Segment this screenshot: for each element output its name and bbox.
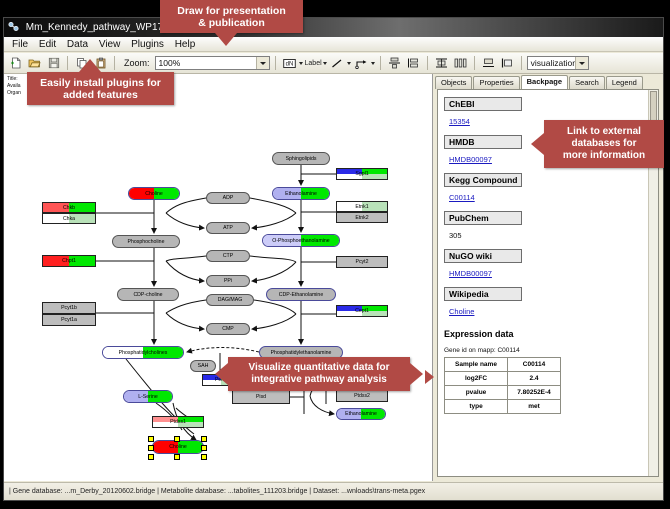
db-header-kegg-compound: Kegg Compound	[444, 173, 522, 187]
callout-draw-line1: Draw for presentation	[177, 5, 286, 17]
side-panel-tabs[interactable]: Objects Properties Backpage Search Legen…	[435, 75, 661, 89]
menu-item-help[interactable]: Help	[171, 37, 200, 52]
db-header-chebi: ChEBI	[444, 97, 522, 111]
gene-cept1[interactable]: Cept1	[336, 305, 388, 317]
callout-visualize-arrow-left-icon	[215, 363, 228, 385]
gene-label: Ptdss2	[354, 393, 370, 399]
tab-legend[interactable]: Legend	[606, 76, 643, 89]
new-file-icon[interactable]	[7, 55, 24, 72]
menu-item-view[interactable]: View	[95, 37, 125, 52]
datanode-icon[interactable]: dN	[281, 55, 298, 72]
screenshot-root: Mm_Kennedy_pathway_WP1771_45176.gpml Fil…	[0, 0, 670, 509]
table-row: type met	[445, 400, 561, 414]
node-label: SAH	[198, 363, 209, 369]
node-label: CMP	[222, 326, 234, 332]
node-label: ADP	[223, 195, 234, 201]
node-phosphatidylcholines[interactable]: Phosphatidylcholines	[102, 346, 184, 359]
open-file-icon[interactable]	[26, 55, 43, 72]
node-label: Choline	[145, 191, 163, 197]
toolbar-separator	[67, 56, 68, 70]
node-atp[interactable]: ATP	[206, 222, 250, 234]
gene-sgpl1[interactable]: Sgpl1	[336, 168, 388, 180]
callout-link: Link to external databases for more info…	[544, 120, 664, 168]
zoom-value: 100%	[159, 58, 181, 68]
node-sah[interactable]: SAH	[190, 360, 216, 372]
node-label: CDP-choline	[133, 292, 162, 298]
db-header-nugo-wiki: NuGO wiki	[444, 249, 522, 263]
label-tool[interactable]: Label	[305, 60, 327, 67]
node-ethanolamine-top[interactable]: Ethanolamine	[272, 187, 330, 200]
tab-objects[interactable]: Objects	[435, 76, 472, 89]
callout-draw-line2: & publication	[177, 17, 286, 29]
node-choline-selected[interactable]: Choline	[152, 440, 204, 454]
tab-properties[interactable]: Properties	[473, 76, 519, 89]
handle-e[interactable]	[201, 445, 207, 451]
handle-n[interactable]	[174, 436, 180, 442]
node-label: Phosphatidylethanolamine	[271, 350, 332, 356]
db-link-kegg-compound[interactable]: C00114	[449, 193, 475, 202]
callout-link-line2: databases for	[563, 138, 645, 150]
toolbar-separator	[380, 56, 381, 70]
save-file-icon[interactable]	[45, 55, 62, 72]
gene-label: Etnk2	[355, 215, 368, 221]
gene-label: Pcyt1a	[61, 317, 77, 323]
expr-value-log2fc: 2.4	[508, 372, 561, 386]
handle-s[interactable]	[174, 454, 180, 460]
toolbar-separator	[114, 56, 115, 70]
visualization-combo[interactable]: visualization	[527, 56, 589, 70]
table-row: pvalue 7.80252E-4	[445, 386, 561, 400]
node-sphingolipids[interactable]: Sphingolipids	[272, 152, 330, 165]
callout-link-line1: Link to external	[563, 126, 645, 138]
callout-visualize-line2: integrative pathway analysis	[249, 374, 390, 386]
node-label: Phosphocholine	[128, 239, 165, 245]
callout-visualize-arrow-right-icon	[410, 363, 423, 385]
node-label: L-Serine	[138, 394, 158, 400]
node-label: ATP	[223, 225, 233, 231]
expression-table: Sample name C00114 log2FC 2.4 pvalue 7.8…	[444, 357, 561, 414]
gene-pcyt1b[interactable]: Pcyt1b	[42, 302, 96, 314]
status-bar-text: | Gene database: ...m_Derby_20120602.bri…	[9, 488, 425, 495]
callout-draw: Draw for presentation & publication	[160, 0, 303, 33]
gene-pcyt1a[interactable]: Pcyt1a	[42, 314, 96, 326]
table-row: log2FC 2.4	[445, 372, 561, 386]
node-ppi[interactable]: PPi	[206, 275, 250, 287]
node-choline-top[interactable]: Choline	[128, 187, 180, 200]
gene-chpt1[interactable]: Chpt1	[42, 255, 96, 267]
interaction-tool[interactable]	[353, 55, 375, 72]
db-header-hmdb: HMDB	[444, 135, 522, 149]
db-link-wikipedia[interactable]: Choline	[449, 307, 474, 316]
gene-ptdss2[interactable]: Ptdss2	[336, 390, 388, 402]
menu-item-plugins[interactable]: Plugins	[127, 37, 168, 52]
db-value-pubchem: 305	[449, 231, 462, 240]
callout-plugins-arrow-icon	[79, 59, 101, 72]
expr-key-sample-name: Sample name	[445, 358, 508, 372]
db-link-nugo-wiki[interactable]: HMDB00097	[449, 269, 492, 278]
expr-key-pvalue: pvalue	[445, 386, 508, 400]
chevron-down-icon[interactable]	[256, 57, 269, 69]
handle-ne[interactable]	[201, 436, 207, 442]
expression-data-heading: Expression data	[444, 329, 646, 339]
callout-visualize: Visualize quantitative data for integrat…	[228, 357, 410, 391]
gene-etnk1[interactable]: Etnk1	[336, 201, 388, 212]
expr-value-sample-name: C00114	[508, 358, 561, 372]
menu-item-file[interactable]: File	[8, 37, 32, 52]
title-bar: Mm_Kennedy_pathway_WP1771_45176.gpml	[4, 18, 663, 37]
line-tool[interactable]	[329, 55, 351, 72]
callout-link-arrow-icon	[531, 133, 544, 155]
expr-value-type: met	[508, 400, 561, 414]
node-label: Ethanolamine	[285, 191, 317, 197]
db-link-chebi[interactable]: 15354	[449, 117, 470, 126]
expr-key-log2fc: log2FC	[445, 372, 508, 386]
gene-label: Pcyt1b	[61, 305, 77, 311]
callout-link-line3: more information	[563, 150, 645, 162]
node-label: CTP	[223, 253, 233, 259]
node-phosphocholine[interactable]: Phosphocholine	[112, 235, 180, 248]
pathway-canvas[interactable]: Sphingolipids Phosphocholine CDP-choline…	[4, 74, 433, 481]
node-cmp[interactable]: CMP	[206, 323, 250, 335]
line-icon[interactable]	[329, 55, 346, 72]
node-label: Choline	[169, 444, 187, 450]
align-icon[interactable]	[386, 55, 403, 72]
node-cdp-choline[interactable]: CDP-choline	[117, 288, 179, 301]
node-label: Ethanolamine	[345, 411, 377, 417]
gene-pcyt2[interactable]: Pcyt2	[336, 256, 388, 268]
node-adp[interactable]: ADP	[206, 192, 250, 204]
callout-visualize-line1: Visualize quantitative data for	[249, 362, 390, 374]
gene-chka[interactable]: Chka	[42, 213, 96, 224]
group-icon[interactable]	[480, 55, 497, 72]
menu-bar[interactable]: File Edit Data View Plugins Help	[4, 37, 663, 52]
chevron-down-icon[interactable]	[575, 57, 588, 69]
node-l-serine-left[interactable]: L-Serine	[123, 390, 173, 403]
node-ethanolamine-right[interactable]: Ethanolamine	[336, 408, 386, 420]
pathway-canvas-panel[interactable]: Title: Availa Organ	[4, 74, 433, 481]
node-label: PPi	[224, 278, 232, 284]
toolbar-separator	[474, 56, 475, 70]
menu-item-data[interactable]: Data	[63, 37, 92, 52]
gene-label: Chkb	[63, 205, 75, 211]
gene-label: Sgpl1	[355, 171, 368, 177]
datanode-tool[interactable]: dN	[281, 55, 303, 72]
distribute-icon[interactable]	[452, 55, 469, 72]
table-row: Sample name C00114	[445, 358, 561, 372]
handle-nw[interactable]	[148, 436, 154, 442]
svg-text:dN: dN	[285, 61, 293, 67]
chevron-down-icon[interactable]	[371, 62, 375, 65]
stack-icon[interactable]	[405, 55, 422, 72]
pathvisio-icon	[8, 20, 19, 31]
menu-item-edit[interactable]: Edit	[35, 37, 60, 52]
spacing-icon[interactable]	[433, 55, 450, 72]
db-header-pubchem: PubChem	[444, 211, 522, 225]
node-dag-mag[interactable]: DAG/MAG	[206, 294, 254, 306]
gene-chkb[interactable]: Chkb	[42, 202, 96, 213]
toolbar-separator	[275, 56, 276, 70]
gene-etnk2[interactable]: Etnk2	[336, 212, 388, 223]
callout-draw-arrow-icon	[215, 33, 237, 46]
handle-sw[interactable]	[148, 454, 154, 460]
tab-backpage[interactable]: Backpage	[521, 75, 568, 89]
node-ctp[interactable]: CTP	[206, 250, 250, 262]
toolbar-separator	[521, 56, 522, 70]
handle-se[interactable]	[201, 454, 207, 460]
gene-label: Pcyt2	[356, 259, 369, 265]
zoom-combo[interactable]: 100%	[155, 56, 270, 70]
gene-label: Etnk1	[355, 204, 368, 210]
callout-plugins-line2: added features	[40, 89, 161, 101]
callout-plugins: Easily install plugins for added feature…	[27, 72, 174, 105]
order-icon[interactable]	[499, 55, 516, 72]
gene-label: Ptdss1	[170, 419, 186, 425]
node-label: Sphingolipids	[286, 156, 317, 162]
node-label: CDP-Ethanolamine	[279, 292, 323, 298]
toolbar-separator	[427, 56, 428, 70]
zoom-label: Zoom:	[124, 58, 150, 68]
node-cdp-ethanolamine[interactable]: CDP-Ethanolamine	[266, 288, 336, 301]
gene-ptdss1[interactable]: Ptdss1	[152, 416, 204, 428]
visualization-value: visualization	[531, 58, 577, 68]
callout-plugins-line1: Easily install plugins for	[40, 77, 161, 89]
status-bar: | Gene database: ...m_Derby_20120602.bri…	[4, 482, 663, 500]
gene-label: Pisd	[256, 394, 266, 400]
expr-value-pvalue: 7.80252E-4	[508, 386, 561, 400]
tab-search[interactable]: Search	[569, 76, 605, 89]
gene-label: Chpt1	[62, 258, 76, 264]
gene-id-on-mapp: Gene id on mapp: C00114	[444, 347, 646, 354]
db-link-hmdb[interactable]: HMDB00097	[449, 155, 492, 164]
node-label: DAG/MAG	[218, 297, 243, 303]
node-label: Phosphatidylcholines	[119, 350, 168, 356]
interaction-icon[interactable]	[353, 55, 370, 72]
gene-pisd[interactable]: Pisd	[232, 390, 290, 404]
toolbar[interactable]: Zoom: 100% dN Label	[4, 53, 663, 74]
expression-pointer-arrow-icon	[425, 370, 434, 384]
node-o-phosphoethanolamine[interactable]: O-Phosphoethanolamine	[262, 234, 340, 247]
gene-label: Chka	[63, 216, 75, 222]
db-header-wikipedia: Wikipedia	[444, 287, 522, 301]
chevron-down-icon[interactable]	[347, 62, 351, 65]
handle-w[interactable]	[148, 445, 154, 451]
gene-label: Cept1	[355, 308, 369, 314]
expr-key-type: type	[445, 400, 508, 414]
node-label: O-Phosphoethanolamine	[272, 238, 329, 244]
chevron-down-icon[interactable]	[299, 62, 303, 65]
label-tool-label: Label	[305, 60, 322, 67]
chevron-down-icon[interactable]	[323, 62, 327, 65]
